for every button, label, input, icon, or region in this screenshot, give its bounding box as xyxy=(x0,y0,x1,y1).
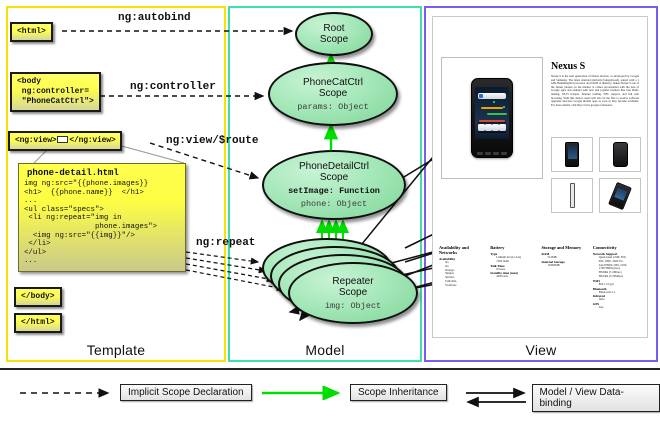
legend-label-implicit: Implicit Scope Declaration xyxy=(120,384,252,401)
legend-label-inheritance: Scope Inheritance xyxy=(350,384,447,401)
scope-bubble-phonecatctrl: PhoneCatCtrlScope params: Object xyxy=(268,62,398,126)
scope-prop-setimage: setImage: Function xyxy=(288,186,380,196)
spec-header: Storage and Memory xyxy=(542,245,590,250)
legend: Implicit Scope Declaration Scope Inherit… xyxy=(0,368,660,422)
spec-column-connectivity: Connectivity Network Support Quad-band G… xyxy=(593,245,641,310)
phone-app-icon xyxy=(492,124,499,131)
legend-item-databinding: Model / View Data-binding xyxy=(462,384,660,412)
spec-value: Vodafone xyxy=(439,284,487,288)
thumbnail-side-icon xyxy=(570,183,575,208)
phone-button xyxy=(477,152,483,155)
code-box-body-open: <body ng:controller= "PhoneCatCtrl"> xyxy=(10,72,101,112)
ngview-close-tag: </ng:view> xyxy=(69,136,115,145)
rendered-view-page: Nexus S Nexus S is the next generation o… xyxy=(432,16,648,338)
spec-header: Battery xyxy=(490,245,538,250)
thumbnail-back-icon xyxy=(613,142,628,167)
phone-description: Nexus S is the next generation of Nexus … xyxy=(551,75,639,107)
edge-label-route: ng:view/$route xyxy=(166,135,258,147)
scope-prop-img: img: Object xyxy=(325,301,381,311)
phone-thumbnail-front[interactable] xyxy=(551,137,593,172)
phone-specs-table: Availability and Networks Availability 3… xyxy=(439,245,641,310)
scope-prop-phone: phone: Object xyxy=(301,199,367,209)
phone-button xyxy=(485,152,491,155)
scope-bubble-root: RootScope xyxy=(295,12,373,56)
scope-bubble-phonedetailctrl: PhoneDetailCtrlScope setImage: Function … xyxy=(262,150,406,220)
spec-header: Connectivity xyxy=(593,245,641,250)
code-box-ngview: <ng:view></ng:view> xyxy=(8,131,122,151)
phone-thumbnail-side[interactable] xyxy=(551,178,593,213)
column-label-model: Model xyxy=(230,342,420,358)
column-label-template: Template xyxy=(8,342,224,358)
spec-value: 16384MB xyxy=(542,264,590,268)
spec-value: 428 hours xyxy=(490,275,538,279)
diagram-canvas: Template Model View xyxy=(0,0,660,420)
code-box-html-open: <html> xyxy=(10,22,53,42)
phone-screen xyxy=(475,87,509,139)
phone-app-dock xyxy=(478,122,506,133)
spec-column-storage: Storage and Memory RAM 512MB Internal St… xyxy=(542,245,590,310)
edge-label-autobind: ng:autobind xyxy=(118,12,191,24)
edge-label-controller: ng:controller xyxy=(130,81,216,93)
thumbnail-front-icon xyxy=(565,142,579,167)
code-box-body-close: </body> xyxy=(14,287,62,307)
phone-thumbnail-back[interactable] xyxy=(599,137,641,172)
phone-app-icon xyxy=(499,124,506,131)
phone-thumbnail-angle[interactable] xyxy=(599,178,641,213)
ngview-placeholder-icon xyxy=(57,136,68,143)
phone-hero-image-frame xyxy=(441,57,543,179)
phone-searchbar xyxy=(478,93,506,99)
code-box-html-close: </html> xyxy=(14,313,62,333)
scope-title-root: RootScope xyxy=(320,23,348,45)
scope-prop-params: params: Object xyxy=(297,102,368,112)
phone-thumbnail-grid xyxy=(551,137,641,213)
phone-app-icon xyxy=(485,124,492,131)
dashed-arrow-icon xyxy=(16,386,120,400)
spec-column-availability: Availability and Networks Availability 3… xyxy=(439,245,487,310)
spec-value: true xyxy=(593,306,641,310)
phone-widget-line-2 xyxy=(487,113,507,115)
scope-title-phonedetailctrl: PhoneDetailCtrlScope xyxy=(299,161,369,183)
legend-item-inheritance: Scope Inheritance xyxy=(258,384,447,401)
phone-widget-line-1 xyxy=(481,107,503,109)
phone-device-image xyxy=(471,78,513,158)
partial-template-code: img ng:src="{{phone.images}} <h1> {{phon… xyxy=(19,180,185,271)
thumbnail-angle-icon xyxy=(608,181,632,209)
phone-button xyxy=(501,152,507,155)
solid-green-arrow-icon xyxy=(258,386,350,400)
column-label-view: View xyxy=(426,342,656,358)
phone-name-heading: Nexus S xyxy=(551,61,585,72)
phone-app-icon xyxy=(478,124,485,131)
ngview-open-tag: <ng:view> xyxy=(15,136,56,145)
partial-template-filename: phone-detail.html xyxy=(19,164,185,180)
scope-title-phonecatctrl: PhoneCatCtrlScope xyxy=(303,77,363,99)
scope-title-repeater: RepeaterScope xyxy=(332,276,373,298)
double-arrow-icon xyxy=(462,387,532,409)
edge-label-repeat: ng:repeat xyxy=(196,237,255,249)
legend-label-databinding: Model / View Data-binding xyxy=(532,384,660,412)
phone-dot-1 xyxy=(493,101,495,103)
spec-header: Availability and Networks xyxy=(439,245,487,255)
phone-dot-2 xyxy=(503,106,505,108)
phone-hardware-buttons xyxy=(476,151,508,155)
partial-template-note: phone-detail.html img ng:src="{{phone.im… xyxy=(18,163,186,272)
scope-bubble-repeater: RepeaterScope img: Object xyxy=(288,262,418,324)
legend-item-implicit: Implicit Scope Declaration xyxy=(16,384,252,401)
spec-column-battery: Battery Type Lithium Ion (Li-Ion) 1500 m… xyxy=(490,245,538,310)
phone-button xyxy=(493,152,499,155)
